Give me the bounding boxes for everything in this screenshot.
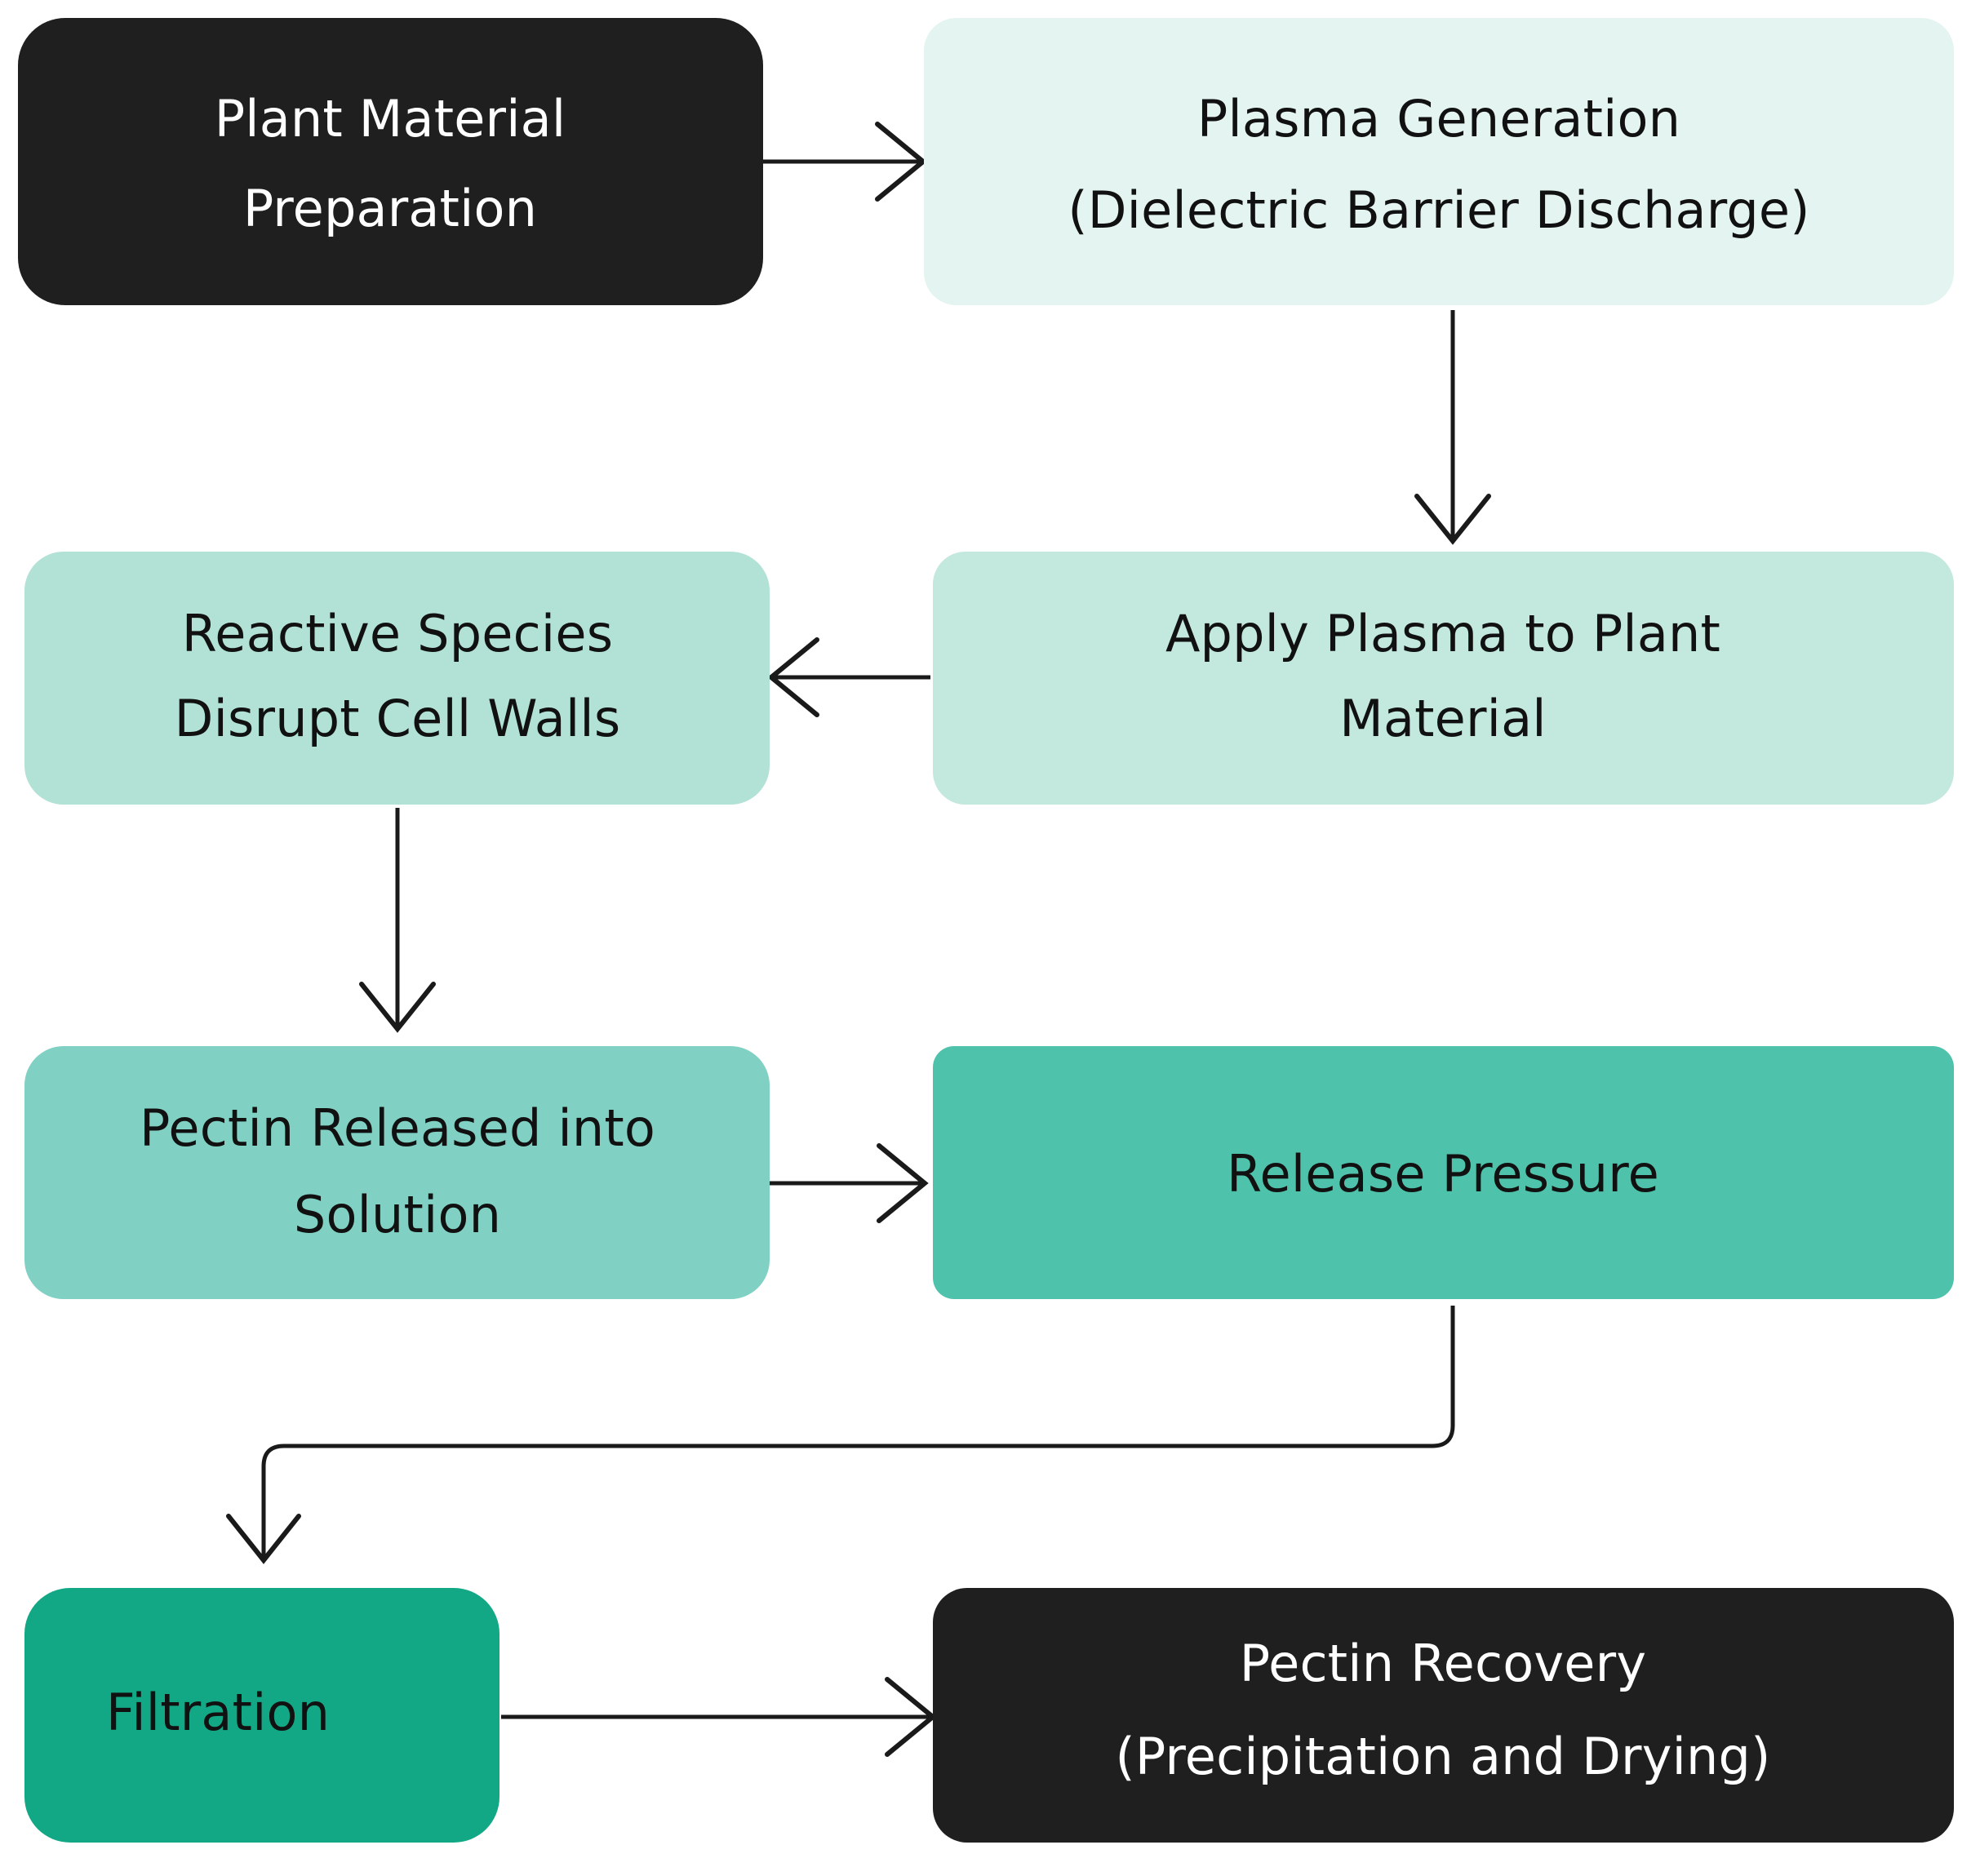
edge-release-to-filtration — [229, 1306, 1453, 1560]
node-plasma-generation-shape[interactable] — [924, 18, 1954, 305]
node-filtration[interactable]: Filtration — [24, 1588, 499, 1843]
node-apply-plasma-to-plant-material[interactable]: Apply Plasma to Plant Material — [933, 552, 1954, 805]
node-plant-material-preparation-line1: Plant Material — [215, 89, 566, 149]
node-apply-plasma-line1: Apply Plasma to Plant — [1165, 604, 1720, 663]
edge-prep-to-plasma — [763, 124, 923, 199]
node-apply-plasma-line2: Material — [1339, 689, 1546, 748]
node-pectin-recovery-line2: (Precipitation and Drying) — [1116, 1727, 1771, 1786]
node-release-pressure[interactable]: Release Pressure — [933, 1046, 1954, 1299]
node-pectin-released-line2: Solution — [294, 1185, 501, 1244]
node-reactive-species-disrupt-cell-walls[interactable]: Reactive Species Disrupt Cell Walls — [24, 552, 770, 805]
node-plant-material-preparation-line2: Preparation — [243, 179, 537, 238]
node-plant-material-preparation-shape[interactable] — [18, 18, 763, 305]
node-plant-material-preparation[interactable]: Plant Material Preparation — [18, 18, 763, 305]
node-reactive-species-line2: Disrupt Cell Walls — [175, 689, 621, 748]
node-filtration-line1: Filtration — [106, 1683, 330, 1742]
node-pectin-recovery[interactable]: Pectin Recovery (Precipitation and Dryin… — [933, 1588, 1954, 1843]
flowchart-canvas: Plant Material Preparation Plasma Genera… — [0, 0, 1980, 1876]
node-pectin-released-line1: Pectin Released into — [140, 1098, 655, 1158]
node-pectin-recovery-line1: Pectin Recovery — [1240, 1634, 1646, 1693]
node-pectin-released-shape[interactable] — [24, 1046, 770, 1299]
node-reactive-species-shape[interactable] — [24, 552, 770, 805]
node-pectin-recovery-shape[interactable] — [933, 1588, 1954, 1843]
edge-pectin-to-release — [767, 1146, 925, 1221]
flowchart-root: Plant Material Preparation Plasma Genera… — [0, 0, 1980, 1876]
edge-apply-to-reactive — [771, 640, 930, 715]
node-release-pressure-line1: Release Pressure — [1227, 1144, 1659, 1204]
node-plasma-generation-line2: (Dielectric Barrier Discharge) — [1068, 180, 1809, 240]
edge-filtration-to-recovery — [501, 1679, 933, 1754]
node-apply-plasma-shape[interactable] — [933, 552, 1954, 805]
node-plasma-generation-line1: Plasma Generation — [1197, 89, 1680, 149]
edge-plasma-to-apply — [1417, 310, 1489, 541]
node-reactive-species-line1: Reactive Species — [182, 604, 613, 663]
node-pectin-released-into-solution[interactable]: Pectin Released into Solution — [24, 1046, 770, 1299]
node-plasma-generation[interactable]: Plasma Generation (Dielectric Barrier Di… — [924, 18, 1954, 305]
edge-reactive-to-pectin — [362, 808, 433, 1029]
